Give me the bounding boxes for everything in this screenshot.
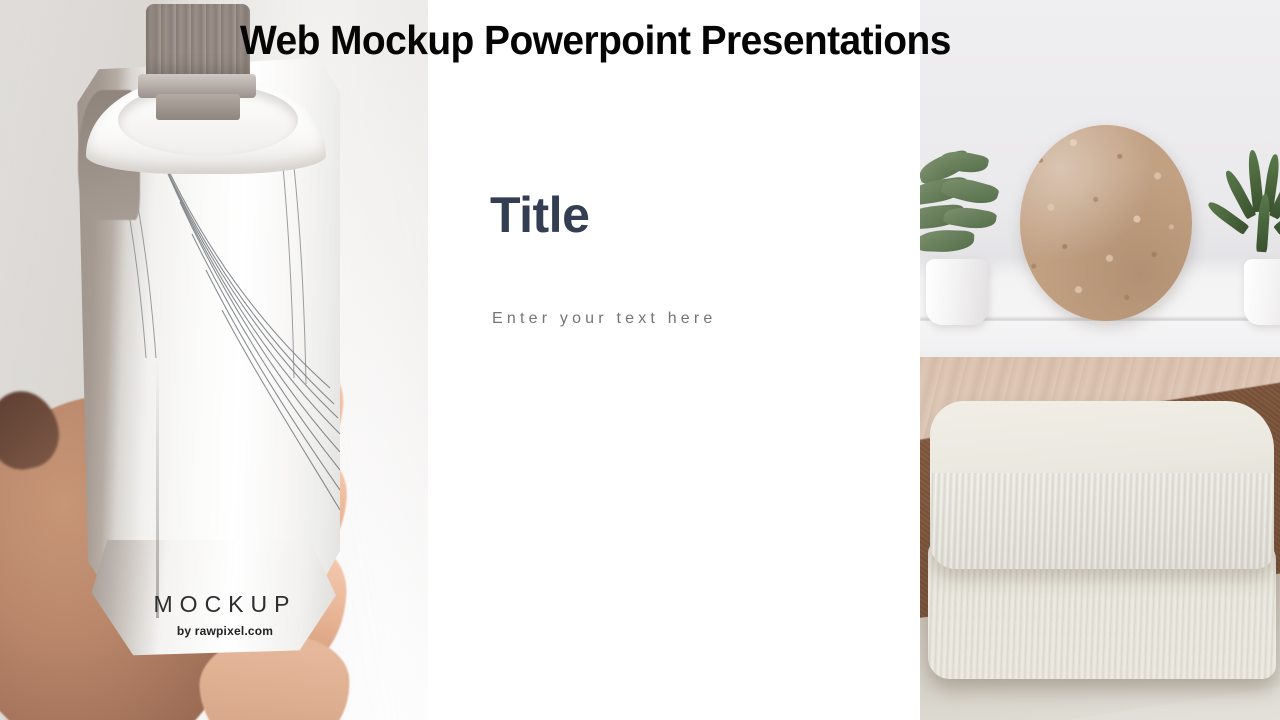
bottle-cap-icon [146, 4, 250, 78]
cap-neck [156, 94, 240, 120]
cork-trivet [1020, 125, 1192, 321]
slide-title: Title [490, 186, 589, 244]
carton-mockup: MOCKUP by rawpixel.com [72, 58, 340, 678]
slide-subtitle-placeholder[interactable]: Enter your text here [492, 310, 717, 328]
carton-brand-credit: by rawpixel.com [150, 624, 300, 638]
carton-brand-word: MOCKUP [150, 591, 300, 618]
right-photo-panel [920, 0, 1280, 720]
cushion-upper [930, 401, 1274, 569]
center-text-panel: Title Enter your text here [428, 0, 920, 720]
floor-cushion-photo [920, 357, 1280, 720]
succulent-plant-right [1216, 150, 1280, 325]
presentation-slide: MOCKUP by rawpixel.com Title Enter your … [0, 0, 1280, 720]
left-photo-panel: MOCKUP by rawpixel.com [0, 0, 428, 720]
cork-texture [1020, 125, 1192, 321]
plant-pot [926, 259, 988, 325]
cushion-corduroy-ribs [930, 473, 1274, 569]
cork-trivet-photo [920, 0, 1280, 357]
shelf-surface [920, 321, 1280, 357]
plant-pot [1244, 259, 1280, 325]
succulent-plant-left [920, 150, 1018, 325]
carton-seam [156, 358, 159, 618]
